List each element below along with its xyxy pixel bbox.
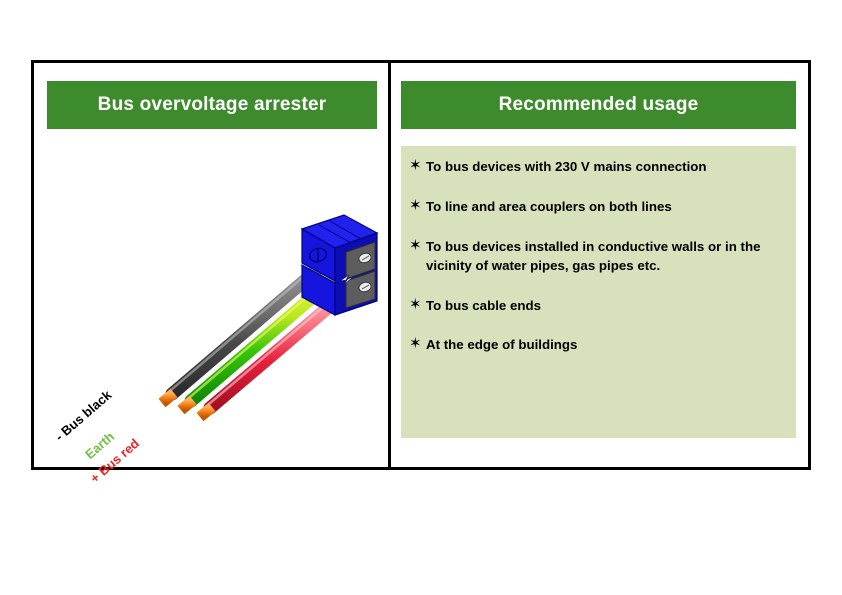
usage-item-text: At the edge of buildings <box>426 336 782 355</box>
usage-list-item: ✶ To bus devices with 230 V mains connec… <box>409 158 782 177</box>
recommended-usage-panel: ✶ To bus devices with 230 V mains connec… <box>401 146 796 438</box>
arrester-device-graphic <box>302 215 377 315</box>
usage-list-item: ✶ To bus devices installed in conductive… <box>409 238 782 276</box>
asterisk-bullet-icon: ✶ <box>409 238 426 255</box>
usage-list-item: ✶ To line and area couplers on both line… <box>409 198 782 217</box>
usage-item-text: To bus cable ends <box>426 297 782 316</box>
usage-list-item: ✶ To bus cable ends <box>409 297 782 316</box>
asterisk-bullet-icon: ✶ <box>409 336 426 353</box>
usage-item-text: To bus devices installed in conductive w… <box>426 238 782 276</box>
left-panel-header: Bus overvoltage arrester <box>47 81 377 129</box>
content-frame: Bus overvoltage arrester <box>31 60 811 470</box>
right-panel-header: Recommended usage <box>401 81 796 129</box>
left-column: Bus overvoltage arrester <box>34 63 388 467</box>
usage-item-text: To bus devices with 230 V mains connecti… <box>426 158 782 177</box>
right-column: Recommended usage ✶ To bus devices with … <box>391 63 808 467</box>
asterisk-bullet-icon: ✶ <box>409 198 426 215</box>
usage-list-item: ✶ At the edge of buildings <box>409 336 782 355</box>
usage-item-text: To line and area couplers on both lines <box>426 198 782 217</box>
arrester-illustration: - Bus black Earth + Bus red <box>34 129 388 467</box>
asterisk-bullet-icon: ✶ <box>409 297 426 314</box>
asterisk-bullet-icon: ✶ <box>409 158 426 175</box>
